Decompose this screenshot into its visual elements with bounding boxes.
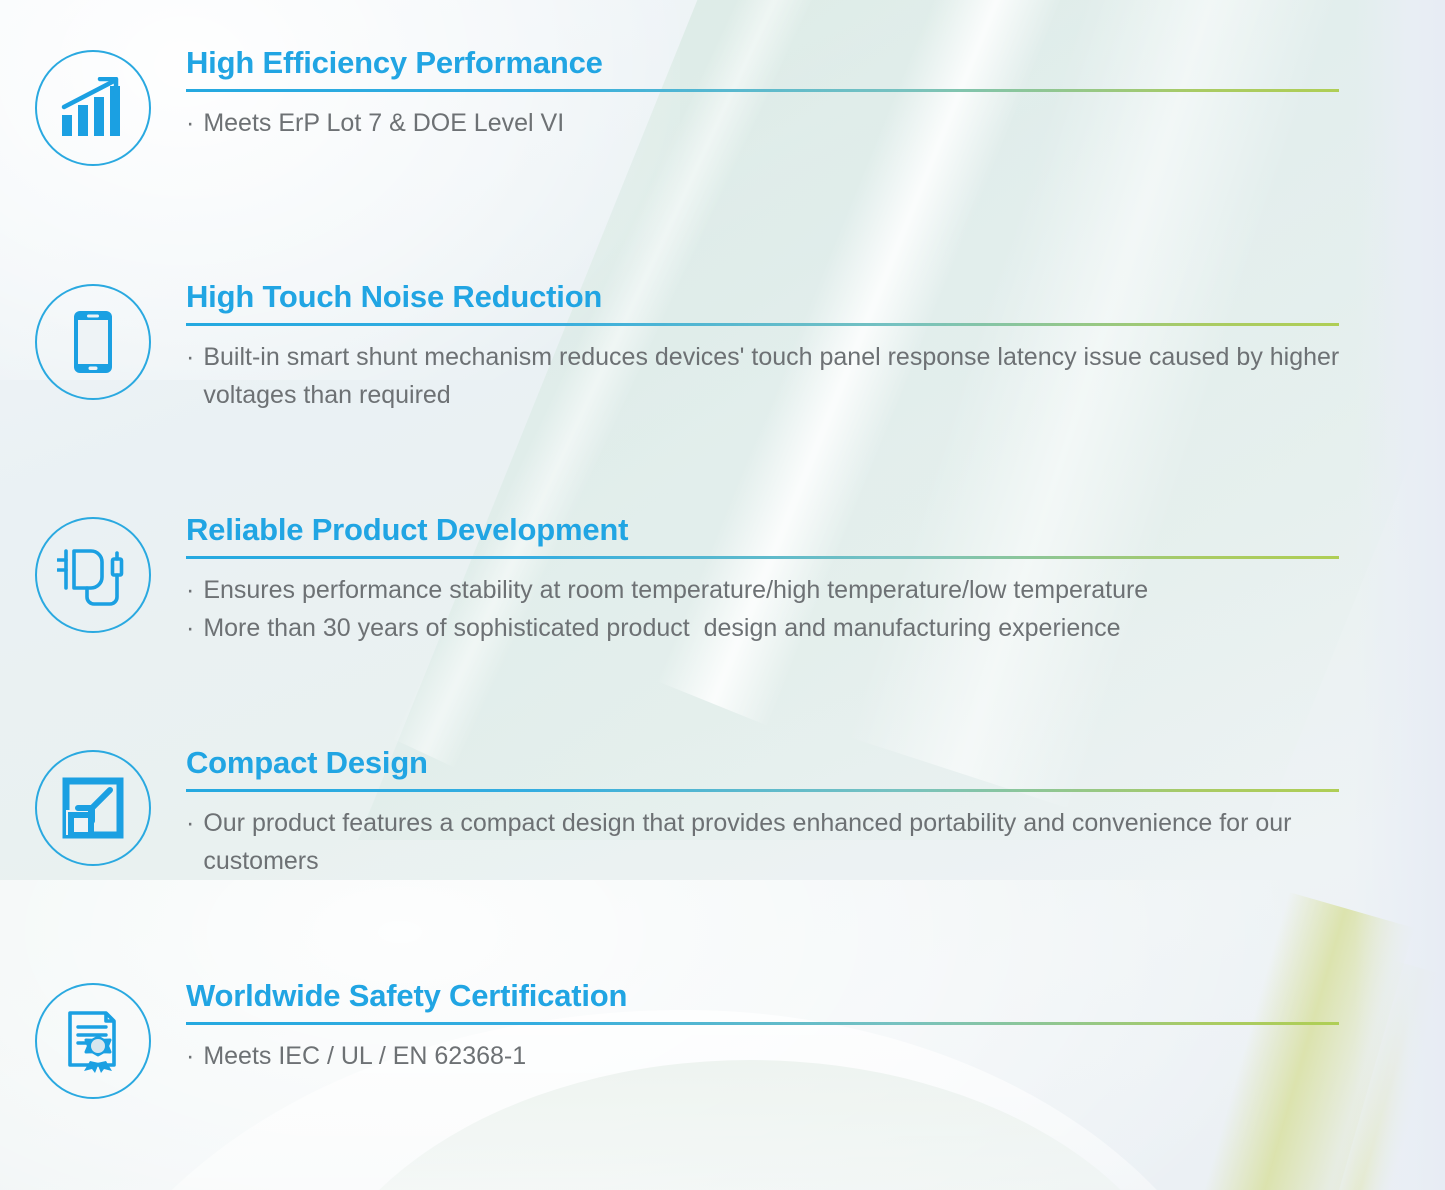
feature-divider [186, 1022, 1339, 1025]
feature-title: Worldwide Safety Certification [186, 977, 1365, 1015]
icon-circle-frame [35, 284, 151, 400]
feature-bullet-text: Meets ErP Lot 7 & DOE Level VI [203, 104, 1365, 142]
bullet-dot: · [186, 338, 194, 376]
feature-bullet-line: · More than 30 years of sophisticated pr… [186, 609, 1365, 647]
bullet-dot: · [186, 804, 194, 842]
feature-item-high-touch-noise-reduction: High Touch Noise Reduction · Built-in sm… [0, 278, 1445, 414]
bullet-dot: · [186, 1037, 194, 1075]
feature-bullet-list: · Our product features a compact design … [186, 804, 1365, 880]
feature-item-reliable-product-development: Reliable Product Development · Ensures p… [0, 511, 1445, 647]
feature-bullet-text: Ensures performance stability at room te… [203, 571, 1365, 609]
feature-content: Reliable Product Development · Ensures p… [186, 511, 1445, 647]
feature-bullet-text: Our product features a compact design th… [203, 804, 1365, 880]
feature-bullet-list: · Meets ErP Lot 7 & DOE Level VI [186, 104, 1365, 142]
bar-chart-growth-icon [60, 77, 126, 139]
feature-bullet-list: · Ensures performance stability at room … [186, 571, 1365, 647]
bullet-dot: · [186, 609, 194, 647]
feature-title: High Touch Noise Reduction [186, 278, 1365, 316]
bullet-dot: · [186, 104, 194, 142]
feature-title: High Efficiency Performance [186, 44, 1365, 82]
feature-highlights-page: High Efficiency Performance · Meets ErP … [0, 0, 1445, 1190]
feature-list: High Efficiency Performance · Meets ErP … [0, 0, 1445, 1190]
icon-circle-frame [35, 50, 151, 166]
feature-content: High Touch Noise Reduction · Built-in sm… [186, 278, 1445, 414]
feature-divider [186, 789, 1339, 792]
feature-bullet-list: · Built-in smart shunt mechanism reduces… [186, 338, 1365, 414]
feature-divider [186, 323, 1339, 326]
feature-bullet-line: · Built-in smart shunt mechanism reduces… [186, 338, 1365, 414]
feature-divider [186, 89, 1339, 92]
feature-item-worldwide-safety-certification: Worldwide Safety Certification · Meets I… [0, 977, 1445, 1099]
feature-item-high-efficiency-performance: High Efficiency Performance · Meets ErP … [0, 44, 1445, 166]
bullet-dot: · [186, 571, 194, 609]
feature-bullet-text: Built-in smart shunt mechanism reduces d… [203, 338, 1365, 414]
feature-bullet-list: · Meets IEC / UL / EN 62368-1 [186, 1037, 1365, 1075]
icon-circle-frame [35, 517, 151, 633]
feature-bullet-text: Meets IEC / UL / EN 62368-1 [203, 1037, 1365, 1075]
feature-icon-container [0, 511, 186, 633]
feature-bullet-line: · Meets IEC / UL / EN 62368-1 [186, 1037, 1365, 1075]
feature-bullet-line: · Meets ErP Lot 7 & DOE Level VI [186, 104, 1365, 142]
certificate-seal-icon [62, 1009, 124, 1073]
feature-bullet-line: · Our product features a compact design … [186, 804, 1365, 880]
feature-item-compact-design: Compact Design · Our product features a … [0, 744, 1445, 880]
feature-content: Compact Design · Our product features a … [186, 744, 1445, 880]
compact-resize-icon [62, 777, 124, 839]
feature-icon-container [0, 278, 186, 400]
feature-bullet-text: More than 30 years of sophisticated prod… [203, 609, 1365, 647]
feature-icon-container [0, 744, 186, 866]
feature-divider [186, 556, 1339, 559]
feature-content: High Efficiency Performance · Meets ErP … [186, 44, 1445, 142]
icon-circle-frame [35, 750, 151, 866]
feature-title: Compact Design [186, 744, 1365, 782]
feature-content: Worldwide Safety Certification · Meets I… [186, 977, 1445, 1075]
feature-title: Reliable Product Development [186, 511, 1365, 549]
feature-bullet-line: · Ensures performance stability at room … [186, 571, 1365, 609]
power-adapter-icon [57, 543, 129, 607]
feature-icon-container [0, 977, 186, 1099]
icon-circle-frame [35, 983, 151, 1099]
feature-icon-container [0, 44, 186, 166]
smartphone-icon [72, 309, 114, 375]
